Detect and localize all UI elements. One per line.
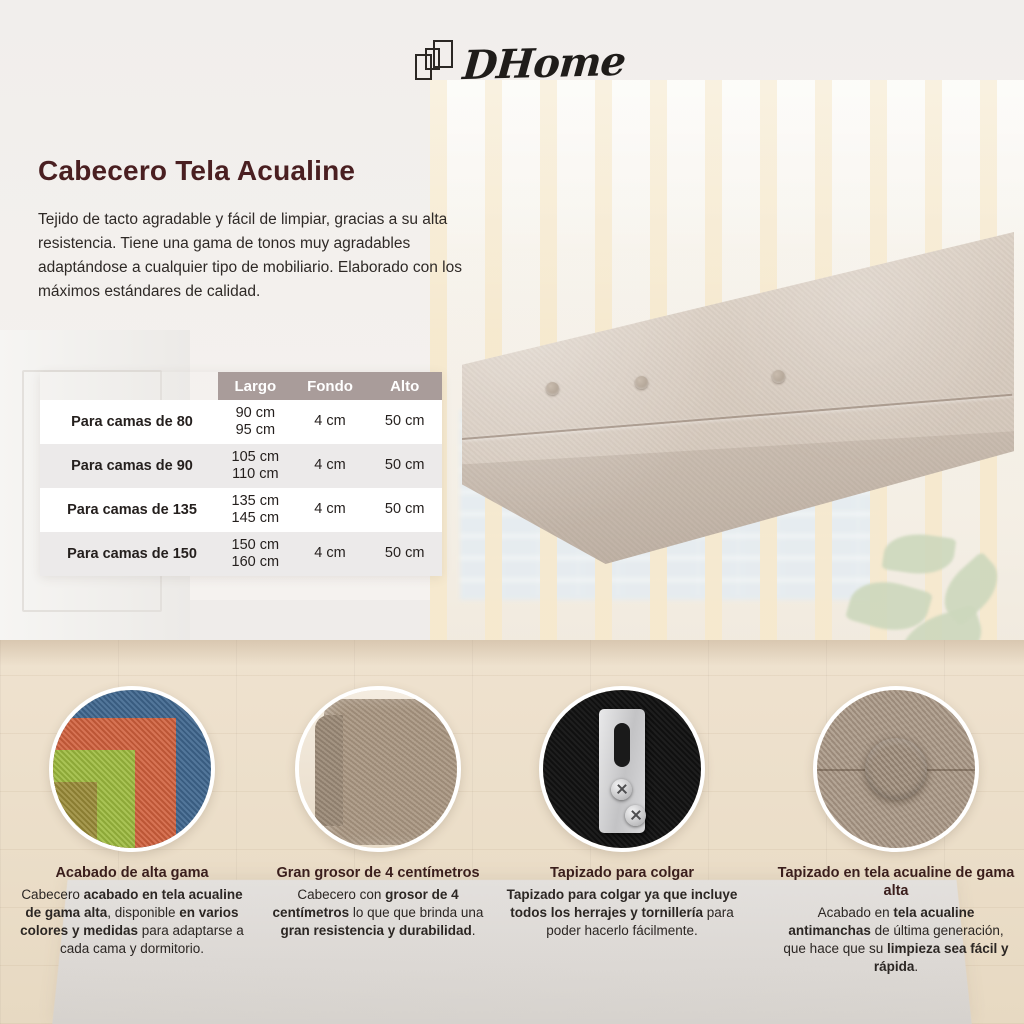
table-cell-fondo: 4 cm [293,532,368,576]
largo-min: 105 cm [232,449,280,466]
largo-max: 145 cm [232,510,280,527]
table-cell-fondo: 4 cm [293,400,368,444]
table-row-label: Para camas de 135 [40,488,218,532]
table-row: Para camas de 90 105 cm 110 cm 4 cm 50 c… [40,444,442,488]
table-row-label: Para camas de 90 [40,444,218,488]
size-table: Largo Fondo Alto Para camas de 80 90 cm … [40,372,442,576]
table-header-alto: Alto [367,378,442,395]
largo-min: 90 cm [236,405,276,422]
table-cell-alto: 50 cm [367,400,442,444]
table-cell-fondo: 4 cm [293,444,368,488]
feature-title: Tapizado para colgar [494,864,750,882]
fabric-swatches-icon [49,686,215,852]
table-row: Para camas de 80 90 cm 95 cm 4 cm 50 cm [40,400,442,444]
table-cell-largo: 90 cm 95 cm [218,400,293,444]
table-cell-alto: 50 cm [367,532,442,576]
feature-title: Gran grosor de 4 centímetros [250,864,506,882]
feature-item-grosor: Gran grosor de 4 centímetros Cabecero co… [250,686,506,940]
stacked-squares-icon [415,40,453,86]
thick-edge-icon [295,686,461,852]
feature-body: Cabecero acabado en tela acualine de gam… [4,886,260,958]
largo-min: 150 cm [232,537,280,554]
feature-item-colgar: Tapizado para colgar Tapizado para colga… [494,686,750,940]
headboard-button [772,370,785,383]
feature-item-acabado: Acabado de alta gama Cabecero acabado en… [4,686,260,958]
table-row: Para camas de 135 135 cm 145 cm 4 cm 50 … [40,488,442,532]
brand-logo: DHome [415,34,625,92]
product-description: Tejido de tacto agradable y fácil de lim… [38,208,470,304]
table-cell-largo: 135 cm 145 cm [218,488,293,532]
infographic-page: DHome Cabecero Tela Acualine Tejido de t… [0,0,1024,1024]
feature-body: Tapizado para colgar ya que incluye todo… [494,886,750,940]
upholstery-button-icon [813,686,979,852]
table-header-row: Largo Fondo Alto [40,372,442,400]
table-row: Para camas de 150 150 cm 160 cm 4 cm 50 … [40,532,442,576]
headboard-button [635,376,648,389]
table-header-largo: Largo [218,378,293,395]
table-header-spacer [40,372,218,400]
table-row-label: Para camas de 80 [40,400,218,444]
table-cell-largo: 150 cm 160 cm [218,532,293,576]
table-cell-fondo: 4 cm [293,488,368,532]
headboard-seam [462,232,1014,564]
feature-title: Acabado de alta gama [4,864,260,882]
brand-name: DHome [461,37,627,88]
table-cell-alto: 50 cm [367,444,442,488]
hanging-bracket-icon [539,686,705,852]
table-row-label: Para camas de 150 [40,532,218,576]
largo-min: 135 cm [232,493,280,510]
feature-title: Tapizado en tela acualine de gama alta [768,864,1024,900]
table-header-fondo: Fondo [293,378,368,395]
table-cell-alto: 50 cm [367,488,442,532]
page-title: Cabecero Tela Acualine [38,155,355,187]
largo-max: 95 cm [236,422,276,439]
floor-shadow [0,640,1024,666]
largo-max: 160 cm [232,554,280,571]
largo-max: 110 cm [232,466,278,483]
table-cell-largo: 105 cm 110 cm [218,444,293,488]
product-headboard-image [462,232,1014,564]
feature-body: Acabado en tela acualine antimanchas de … [768,904,1024,976]
feature-item-tapizado: Tapizado en tela acualine de gama alta A… [768,686,1024,977]
feature-body: Cabecero con grosor de 4 centímetros lo … [250,886,506,940]
headboard-button [546,382,559,395]
feature-list: Acabado de alta gama Cabecero acabado en… [0,686,1024,1024]
